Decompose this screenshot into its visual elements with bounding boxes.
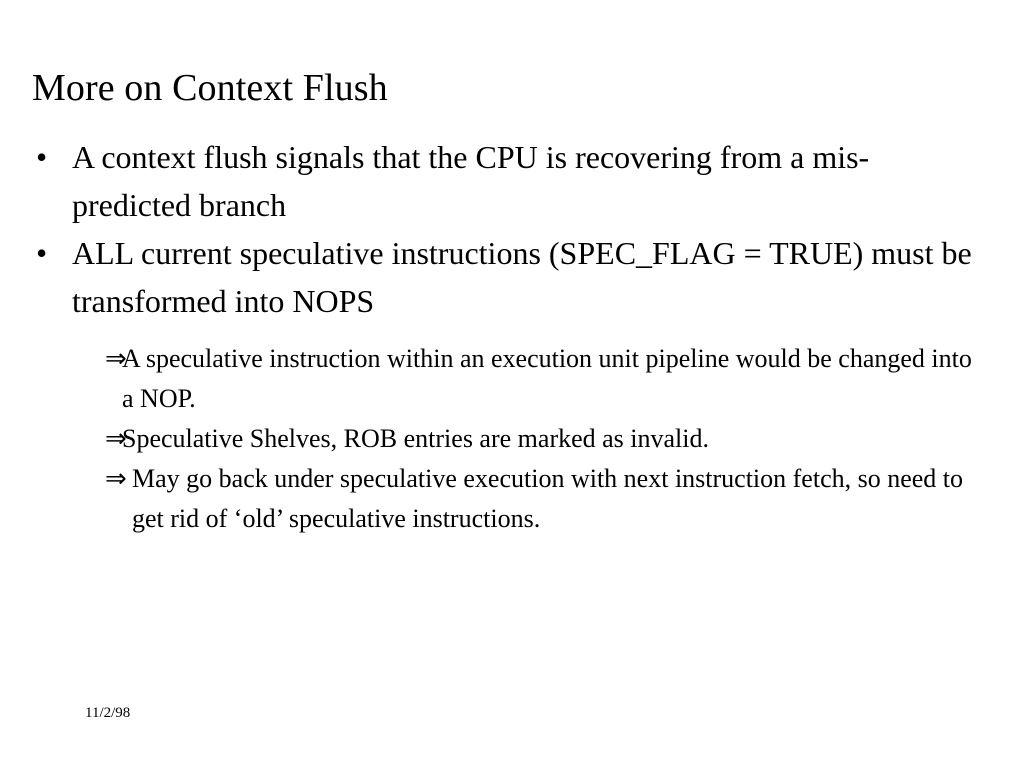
bullet-dot-icon: • [36, 133, 47, 181]
sub-bullet-text: Speculative Shelves, ROB entries are mar… [122, 419, 984, 459]
double-arrow-icon: ⇒ [105, 419, 127, 459]
list-item: ⇒ May go back under speculative executio… [105, 459, 984, 539]
bullet-text: ALL current speculative instructions (SP… [72, 229, 984, 325]
bullet-text: A context flush signals that the CPU is … [72, 133, 984, 229]
sub-bullet-list: ⇒ A speculative instruction within an ex… [32, 339, 984, 539]
footer-date: 11/2/98 [85, 703, 130, 723]
page-title: More on Context Flush [32, 65, 992, 111]
double-arrow-icon: ⇒ [105, 339, 127, 379]
slide-body: • A context flush signals that the CPU i… [32, 133, 984, 539]
bullet-dot-icon: • [36, 229, 47, 277]
list-item: ⇒ A speculative instruction within an ex… [105, 339, 984, 419]
list-item: • ALL current speculative instructions (… [32, 229, 984, 325]
sub-bullet-text: May go back under speculative execution … [132, 459, 984, 539]
list-item: ⇒ Speculative Shelves, ROB entries are m… [105, 419, 984, 459]
sub-bullet-text: A speculative instruction within an exec… [122, 339, 984, 419]
double-arrow-icon: ⇒ [105, 459, 127, 499]
slide-canvas: More on Context Flush • A context flush … [0, 0, 1024, 768]
list-item: • A context flush signals that the CPU i… [32, 133, 984, 229]
